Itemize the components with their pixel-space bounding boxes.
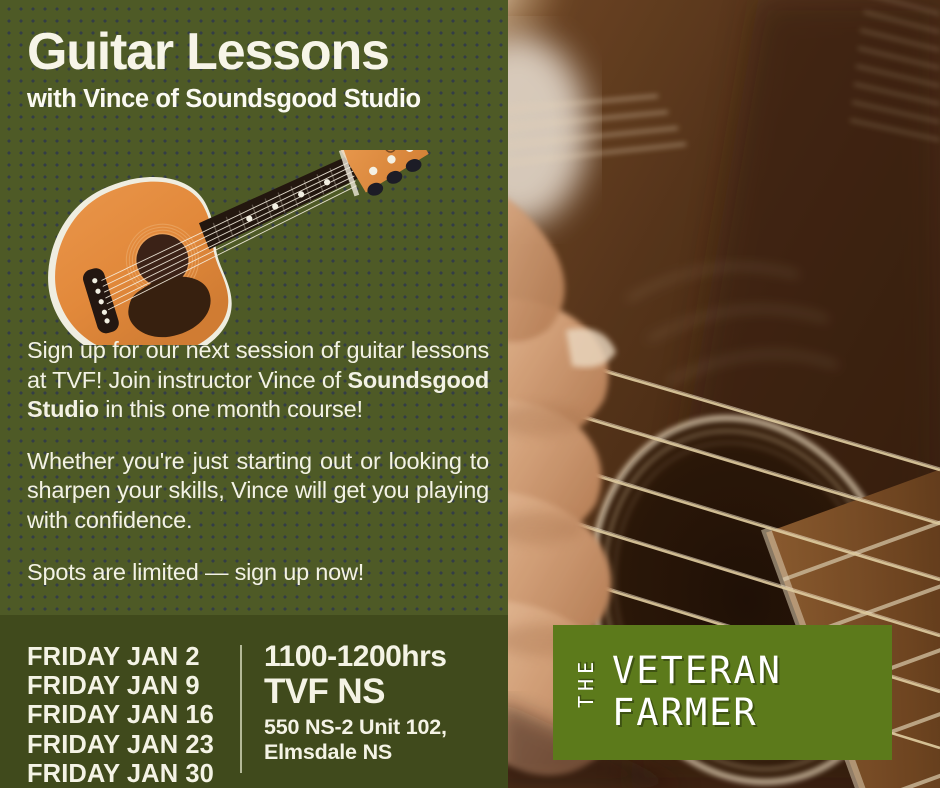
page-subtitle: with Vince of Soundsgood Studio bbox=[27, 85, 497, 113]
logo-the-text: THE bbox=[574, 678, 598, 708]
logo-line-farmer: FARMER bbox=[612, 694, 782, 733]
poster-root: Guitar Lessons with Vince of Soundsgood … bbox=[0, 0, 940, 788]
list-item: FRIDAY JAN 23 bbox=[27, 731, 214, 760]
schedule-date-list: FRIDAY JAN 2 FRIDAY JAN 9 FRIDAY JAN 16 … bbox=[27, 643, 214, 788]
logo-wordmark: VETERAN FARMER bbox=[612, 652, 782, 733]
venue-details: 1100-1200hrs TVF NS 550 NS-2 Unit 102, E… bbox=[264, 641, 500, 764]
list-item: FRIDAY JAN 2 bbox=[27, 643, 214, 672]
venue-address: 550 NS-2 Unit 102, Elmsdale NS bbox=[264, 715, 500, 764]
vertical-divider bbox=[240, 645, 242, 773]
body-paragraph-3: Spots are limited — sign up now! bbox=[27, 558, 489, 588]
list-item: FRIDAY JAN 9 bbox=[27, 672, 214, 701]
list-item: FRIDAY JAN 16 bbox=[27, 701, 214, 730]
body-paragraph-1: Sign up for our next session of guitar l… bbox=[27, 336, 489, 425]
body-copy: Sign up for our next session of guitar l… bbox=[27, 336, 489, 587]
left-content-panel: Guitar Lessons with Vince of Soundsgood … bbox=[0, 0, 508, 615]
brand-logo: THE VETERAN FARMER bbox=[553, 625, 892, 760]
logo-inner: THE VETERAN FARMER bbox=[571, 637, 882, 748]
body-paragraph-2: Whether you're just starting out or look… bbox=[27, 447, 489, 536]
acoustic-guitar-icon bbox=[32, 150, 482, 345]
address-line-1: 550 NS-2 Unit 102, bbox=[264, 715, 500, 740]
venue-name: TVF NS bbox=[264, 674, 500, 711]
list-item: FRIDAY JAN 30 bbox=[27, 760, 214, 788]
logo-line-veteran: VETERAN bbox=[612, 652, 782, 691]
footer-info-band: FRIDAY JAN 2 FRIDAY JAN 9 FRIDAY JAN 16 … bbox=[0, 615, 508, 788]
body-p1-after: in this one month course! bbox=[99, 396, 363, 422]
session-hours: 1100-1200hrs bbox=[264, 641, 500, 673]
address-line-2: Elmsdale NS bbox=[264, 740, 500, 765]
heading-group: Guitar Lessons with Vince of Soundsgood … bbox=[27, 26, 497, 113]
page-title: Guitar Lessons bbox=[27, 26, 497, 79]
